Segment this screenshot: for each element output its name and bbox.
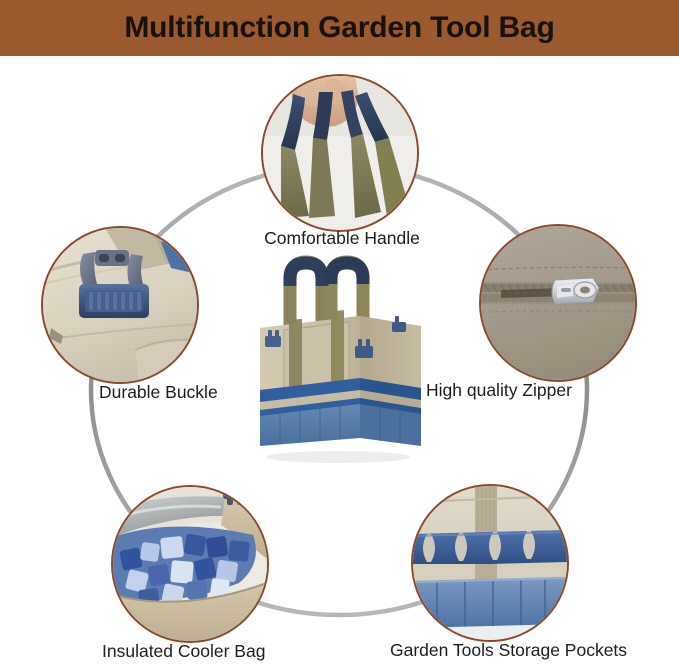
page-title: Multifunction Garden Tool Bag: [124, 13, 554, 43]
header-banner: Multifunction Garden Tool Bag: [0, 0, 679, 56]
callout-durable-buckle[interactable]: Durable Buckle: [41, 226, 199, 384]
fabric-texture: [261, 74, 419, 232]
garden-tools-storage-pockets-photo: [411, 484, 569, 642]
callout-insulated-cooler-bag[interactable]: Insulated Cooler Bag: [111, 485, 269, 643]
fabric-texture: [479, 224, 637, 382]
insulated-cooler-bag-label: Insulated Cooler Bag: [102, 643, 265, 661]
callout-garden-tools-storage-pockets[interactable]: Garden Tools Storage Pockets: [411, 484, 569, 642]
product-image: [243, 250, 438, 465]
durable-buckle-photo: [41, 226, 199, 384]
durable-buckle-label: Durable Buckle: [99, 384, 218, 402]
fabric-texture: [41, 226, 199, 384]
high-quality-zipper-label: High quality Zipper: [426, 382, 572, 400]
fabric-texture: [111, 485, 269, 643]
high-quality-zipper-photo: [479, 224, 637, 382]
garden-tools-storage-pockets-label: Garden Tools Storage Pockets: [390, 642, 627, 660]
callout-high-quality-zipper[interactable]: High quality Zipper: [479, 224, 637, 382]
comfortable-handle-label: Comfortable Handle: [263, 230, 421, 248]
callout-comfortable-handle[interactable]: Comfortable Handle: [261, 74, 419, 232]
comfortable-handle-photo: [261, 74, 419, 232]
fabric-texture: [411, 484, 569, 642]
infographic-page: Multifunction Garden Tool Bag: [0, 0, 679, 669]
insulated-cooler-bag-photo: [111, 485, 269, 643]
